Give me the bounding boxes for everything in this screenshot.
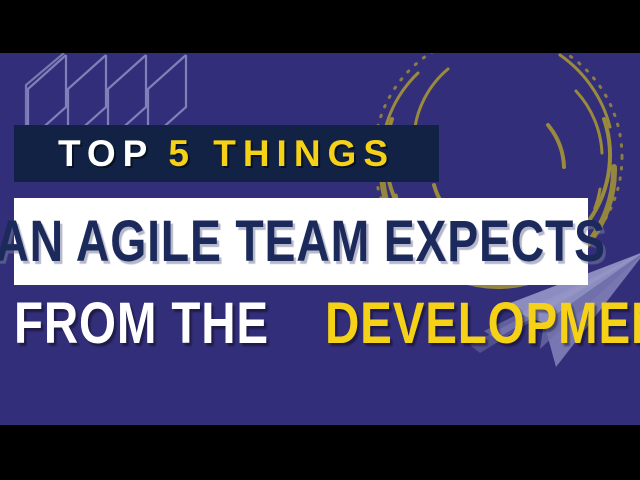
headline-line3-row: FROM THE DEVELOPMENT TEAM: [14, 291, 626, 357]
headline-line1-banner: TOP 5 THINGS: [14, 125, 439, 182]
headline-line3-white: FROM THE: [14, 295, 269, 353]
headline-line2-band: AN AGILE TEAM EXPECTS: [14, 198, 588, 285]
headline-line1-yellow: 5 THINGS: [168, 135, 395, 172]
letterbox-bar-bottom: [0, 425, 640, 480]
video-thumbnail-stage: TOP 5 THINGS AN AGILE TEAM EXPECTS FROM …: [0, 0, 640, 480]
headline-line3-yellow: DEVELOPMENT TEAM: [325, 295, 640, 353]
headline-line1-white: TOP: [58, 135, 154, 172]
letterbox-bar-top: [0, 0, 640, 53]
title-card-canvas: TOP 5 THINGS AN AGILE TEAM EXPECTS FROM …: [0, 53, 640, 425]
headline-line2-text: AN AGILE TEAM EXPECTS: [0, 213, 606, 271]
